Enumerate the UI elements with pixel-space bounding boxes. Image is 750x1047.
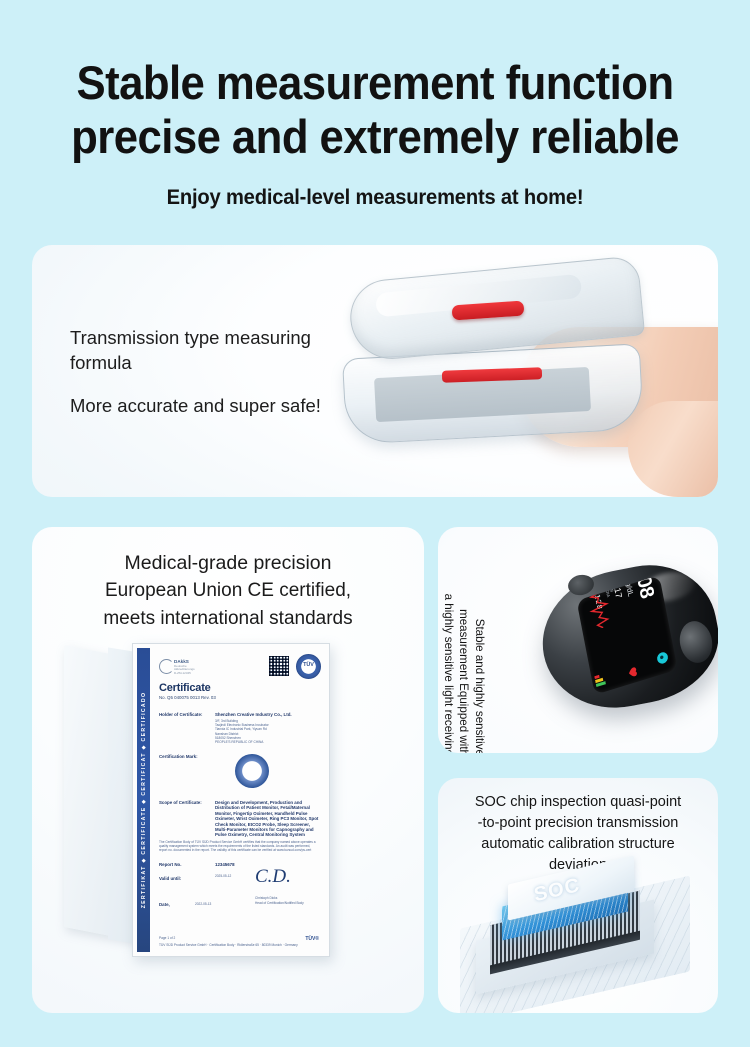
soc-chip-image: SOC bbox=[446, 882, 710, 1006]
medical-grade-precision-card: Medical-grade precision European Union C… bbox=[32, 527, 424, 1013]
tuv-seal-icon: TÜV bbox=[296, 654, 321, 679]
tuv-footer-logo: TÜV® bbox=[305, 936, 319, 942]
page-number: Page 1 of 2 bbox=[159, 936, 175, 940]
tuv-certification-mark-icon: TÜV bbox=[235, 754, 269, 788]
certificate-page-body: DAkkS DeutscheAkkreditierungsD-ZM-12345 … bbox=[157, 650, 323, 952]
valid-value: 2025-05-12 bbox=[215, 874, 231, 878]
certificate-number: No. Q5 040075 0013 Rev. 03 bbox=[159, 695, 216, 700]
soc-chip-label: SOC bbox=[532, 874, 581, 907]
tuv-mark-text: TÜV bbox=[235, 767, 269, 776]
report-value: 12345678 bbox=[215, 862, 235, 867]
transmission-line-1: Transmission type measuring bbox=[70, 325, 370, 350]
certificate-front-page: ZERTIFIKAT ◆ CERTIFICATE ◆ CERTIFICAT ◆ … bbox=[132, 643, 330, 957]
sensitive-sensor-card: Stable and highly sensitive measurement … bbox=[438, 527, 718, 753]
qr-code-icon bbox=[269, 656, 289, 676]
bluetooth-icon: ● bbox=[656, 651, 669, 665]
certificate-spine-band: ZERTIFIKAT ◆ CERTIFICATE ◆ CERTIFICAT ◆ … bbox=[137, 648, 150, 952]
soc-line-1: SOC chip inspection quasi-point bbox=[448, 792, 708, 813]
heart-icon bbox=[631, 665, 641, 676]
page-subtitle: Enjoy medical-level measurements at home… bbox=[15, 186, 735, 210]
tuv-seal-text: TÜV bbox=[297, 662, 320, 668]
holder-address: 3/F, 3rd Building Taojindi Electronic Bu… bbox=[215, 719, 315, 744]
date-label: Date, bbox=[159, 902, 170, 907]
transmission-line-3: More accurate and super safe! bbox=[70, 393, 370, 418]
dakks-logo: DAkkS DeutscheAkkreditierungsD-ZM-12345 bbox=[159, 658, 213, 674]
ring-oximeter-image: 108 mg/dL 117 82 128 mmHg SYS DIA bbox=[534, 549, 718, 735]
certificate-heading-block: Medical-grade precision European Union C… bbox=[32, 549, 424, 633]
certificate-spine-label: ZERTIFIKAT ◆ CERTIFICATE ◆ CERTIFICAT ◆ … bbox=[141, 692, 147, 909]
soc-chip-card: SOC chip inspection quasi-point -to-poin… bbox=[438, 778, 718, 1013]
clamshell-oximeter-image bbox=[332, 251, 718, 497]
sensor-text-lines: Stable and highly sensitive measurement … bbox=[438, 556, 487, 753]
sensor-line-3: a highly sensitive light receiving bbox=[441, 556, 457, 753]
soc-text-block: SOC chip inspection quasi-point -to-poin… bbox=[448, 792, 708, 876]
dakks-ring-icon bbox=[159, 659, 174, 674]
holder-value: Shenzhen Creative Industry Co., Ltd. bbox=[215, 712, 292, 717]
certification-mark-label: Certification Mark: bbox=[159, 754, 198, 759]
product-detail-page: Stable measurement function precise and … bbox=[0, 0, 750, 1047]
document-footer: TÜV SÜD Product Service GmbH · Certifica… bbox=[159, 943, 309, 947]
scope-label: Scope of Certificate: bbox=[159, 800, 202, 805]
page-title-line-1: Stable measurement function bbox=[26, 56, 724, 110]
cert-heading-line-1: Medical-grade precision bbox=[32, 549, 424, 577]
signer-name: Christoph Dicks bbox=[255, 896, 277, 900]
valid-label: Valid until: bbox=[159, 876, 181, 881]
page-title-line-2: precise and extremely reliable bbox=[26, 110, 724, 164]
signal-bars-icon bbox=[597, 672, 609, 689]
signature-mark: C.D. bbox=[255, 866, 313, 892]
transmission-text-block: Transmission type measuring formula More… bbox=[70, 325, 370, 418]
soc-line-3: automatic calibration structure bbox=[448, 834, 708, 855]
sensor-line-1: Stable and highly sensitive bbox=[472, 556, 488, 753]
report-label: Report No. bbox=[159, 862, 181, 867]
sensor-line-2: measurement Equipped with bbox=[456, 556, 472, 753]
certificate-document-image: ZERTIFIKAT ◆ CERTIFICATE ◆ CERTIFICAT ◆ … bbox=[32, 643, 424, 1003]
thumb-illustration bbox=[628, 401, 718, 497]
page-header: Stable measurement function precise and … bbox=[0, 0, 750, 210]
certificate-legal-note: The Certification Body of TÜV SÜD Produc… bbox=[159, 840, 319, 853]
signer-title: Head of Certification/Notified Body bbox=[255, 901, 304, 905]
certificate-title: Certificate bbox=[159, 682, 211, 694]
dakks-sublabel: DeutscheAkkreditierungsD-ZM-12345 bbox=[174, 665, 195, 675]
scope-value: Design and Development, Production and D… bbox=[215, 800, 319, 838]
date-value: 2022-05-13 bbox=[195, 902, 211, 906]
holder-label: Holder of Certificate: bbox=[159, 712, 202, 717]
cert-heading-line-3: meets international standards bbox=[32, 605, 424, 633]
cert-heading-line-2: European Union CE certified, bbox=[32, 577, 424, 605]
transmission-type-card: Transmission type measuring formula More… bbox=[32, 245, 718, 497]
soc-line-2: -to-point precision transmission bbox=[448, 813, 708, 834]
transmission-line-2: formula bbox=[70, 350, 370, 375]
